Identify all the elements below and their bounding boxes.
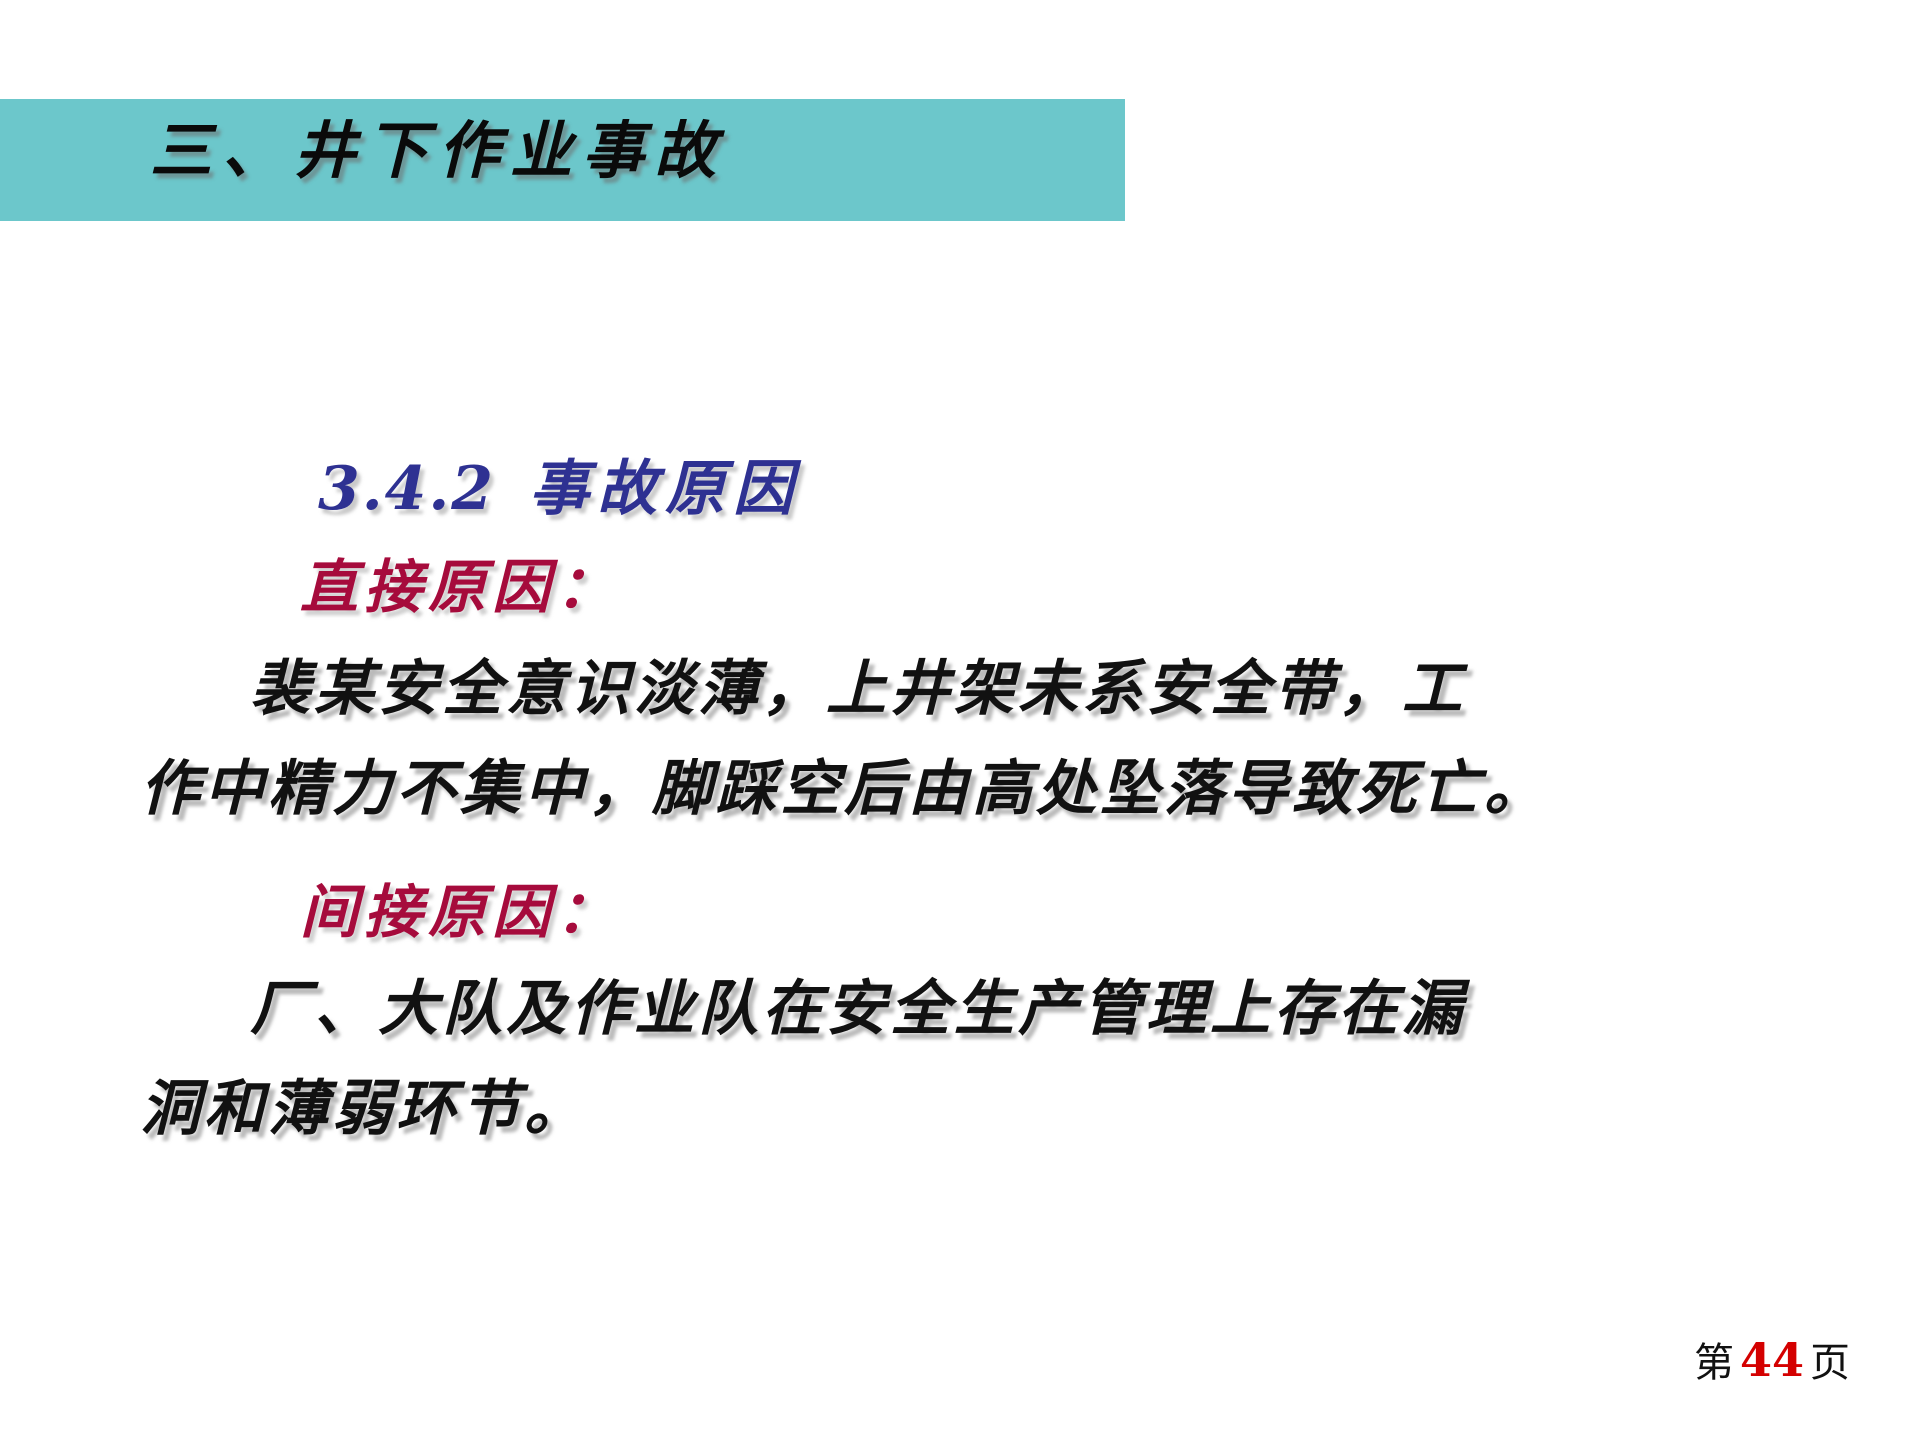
section-heading: 3.4.2事故原因: [318, 440, 801, 527]
section-title-text: 事故原因: [529, 454, 801, 524]
direct-cause-heading: 直接原因：: [300, 540, 620, 624]
page-footer: 第44页: [1694, 1330, 1850, 1388]
section-number-text: 3.4.2: [318, 454, 495, 524]
slide-canvas: 三、井下作业事故 3.4.2事故原因 直接原因： 裴某安全意识淡薄，上井架未系安…: [0, 0, 1920, 1440]
indirect-cause-heading: 间接原因：: [300, 865, 620, 949]
indirect-cause-line-2: 洞和薄弱环节。: [140, 1060, 588, 1147]
direct-cause-line-2: 作中精力不集中，脚踩空后由高处坠落导致死亡。: [140, 740, 1548, 827]
page-footer-prefix: 第: [1694, 1340, 1734, 1386]
page-number: 44: [1740, 1333, 1804, 1387]
indirect-cause-line-1: 厂、大队及作业队在安全生产管理上存在漏: [250, 960, 1466, 1047]
page-title: 三、井下作业事故: [150, 86, 1050, 216]
page-footer-suffix: 页: [1810, 1340, 1850, 1386]
direct-cause-line-1: 裴某安全意识淡薄，上井架未系安全带，工: [250, 640, 1466, 727]
